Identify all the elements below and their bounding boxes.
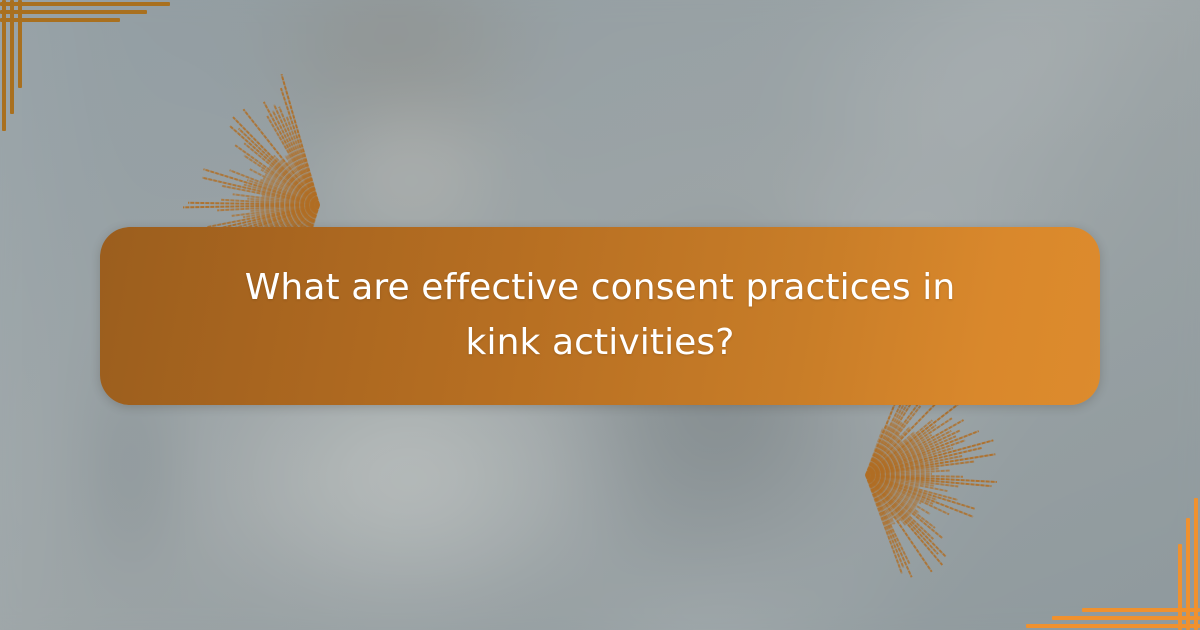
- question-card-canvas: What are effective consent practices in …: [0, 0, 1200, 630]
- question-text: What are effective consent practices in …: [220, 261, 980, 370]
- question-card: What are effective consent practices in …: [100, 227, 1100, 405]
